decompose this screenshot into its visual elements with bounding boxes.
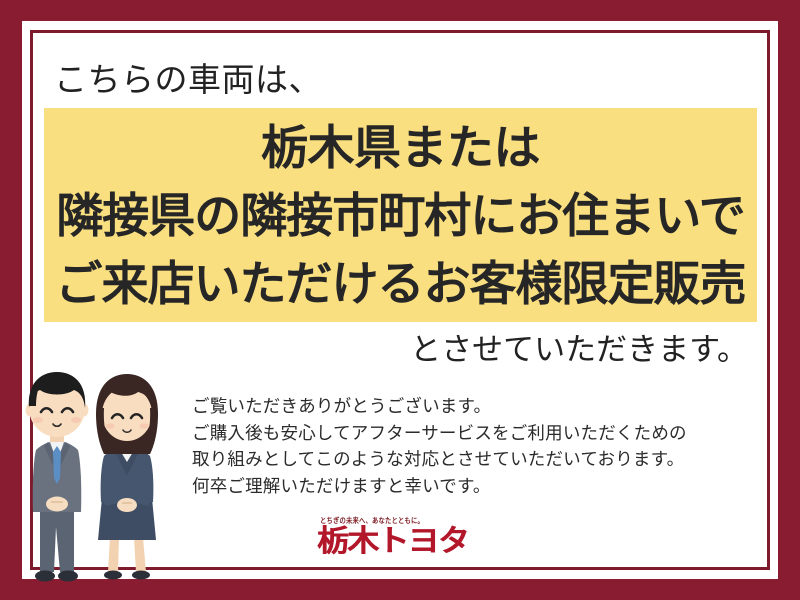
highlight-line-3: ご来店いただけるお客様限定販売 <box>44 250 757 318</box>
closing-line: とさせていただきます。 <box>410 328 748 372</box>
body-line-2: ご購入後も安心してアフターサービスをご利用いただくための <box>192 420 687 447</box>
body-line-1: ご覧いただきありがとうございます。 <box>192 393 687 420</box>
male-staff-figure <box>26 372 89 582</box>
bowing-staff-illustration <box>10 362 182 594</box>
highlight-line-1: 栃木県または <box>44 114 757 182</box>
logo-wordmark: 栃木トヨタ <box>317 525 508 559</box>
female-staff-figure <box>96 374 158 580</box>
poster-root: こちらの車両は、 栃木県または 隣接県の隣接市町村にお住まいで ご来店いただける… <box>0 0 800 600</box>
poster-content: こちらの車両は、 栃木県または 隣接県の隣接市町村にお住まいで ご来店いただける… <box>0 0 800 600</box>
intro-line: こちらの車両は、 <box>54 58 322 102</box>
highlight-line-2: 隣接県の隣接市町村にお住まいで <box>44 182 757 250</box>
body-line-4: 何卒ご理解いただけますと幸いです。 <box>192 473 687 500</box>
body-paragraph: ご覧いただきありがとうございます。 ご購入後も安心してアフターサービスをご利用い… <box>192 393 687 499</box>
tochigi-toyota-logo: とちぎの未来へ、あなたとともに。 栃木トヨタ <box>317 516 497 559</box>
body-line-3: 取り組みとしてこのような対応とさせていただいております。 <box>192 446 687 473</box>
highlight-block: 栃木県または 隣接県の隣接市町村にお住まいで ご来店いただけるお客様限定販売 <box>44 108 757 322</box>
